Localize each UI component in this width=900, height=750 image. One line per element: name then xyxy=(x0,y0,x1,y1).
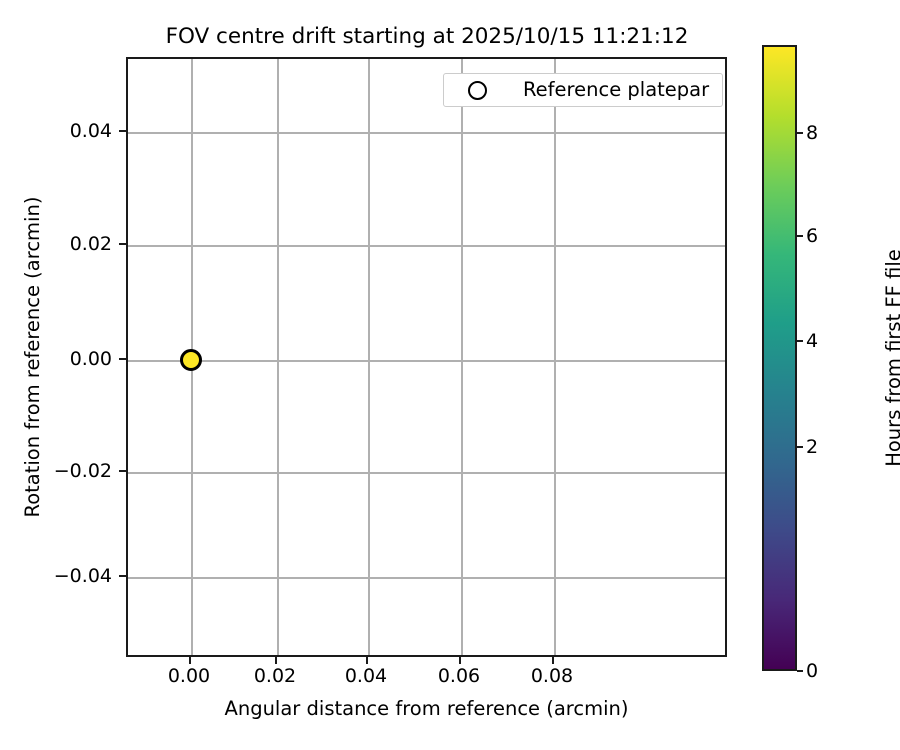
y-tick-label: 0.02 xyxy=(70,232,112,256)
page-title: FOV centre drift starting at 2025/10/15 … xyxy=(126,24,728,50)
y-tick-mark xyxy=(119,575,126,577)
y-tick-label: 0.04 xyxy=(70,119,112,143)
x-tick-mark xyxy=(189,657,191,664)
gridline-vertical xyxy=(461,59,463,655)
gridline-vertical xyxy=(554,59,556,655)
y-tick-mark xyxy=(119,358,126,360)
colorbar-label: Hours from first FF file xyxy=(882,58,900,658)
x-axis-label: Angular distance from reference (arcmin) xyxy=(126,697,727,721)
legend-marker-icon xyxy=(468,81,487,100)
figure-canvas: FOV centre drift starting at 2025/10/15 … xyxy=(0,0,900,750)
legend-item-label: Reference platepar xyxy=(523,78,709,102)
y-tick-label: −0.02 xyxy=(54,459,112,483)
x-tick-mark xyxy=(366,657,368,664)
x-tick-mark xyxy=(459,657,461,664)
gridline-horizontal xyxy=(128,577,725,579)
y-tick-mark xyxy=(119,470,126,472)
gridline-horizontal xyxy=(128,472,725,474)
legend-box[interactable]: Reference platepar xyxy=(443,73,723,107)
colorbar-tick-label: 0 xyxy=(806,659,818,683)
y-tick-label: −0.04 xyxy=(54,564,112,588)
colorbar-tick-label: 4 xyxy=(806,329,818,353)
x-tick-label: 0.08 xyxy=(492,664,612,688)
gridline-vertical xyxy=(277,59,279,655)
x-tick-mark xyxy=(552,657,554,664)
y-tick-label: 0.00 xyxy=(70,347,112,371)
gridline-horizontal xyxy=(128,360,725,362)
y-tick-mark xyxy=(119,243,126,245)
scatter-point-reference[interactable] xyxy=(180,349,202,371)
colorbar-tick-mark xyxy=(797,446,803,448)
plot-area[interactable]: Reference platepar xyxy=(126,57,727,657)
colorbar-gradient xyxy=(762,45,797,671)
colorbar-tick-label: 8 xyxy=(806,121,818,145)
x-tick-mark xyxy=(275,657,277,664)
gridline-horizontal xyxy=(128,245,725,247)
y-axis-label: Rotation from reference (arcmin) xyxy=(21,57,45,657)
colorbar-tick-mark xyxy=(797,132,803,134)
colorbar-tick-mark xyxy=(797,340,803,342)
gridline-horizontal xyxy=(128,132,725,134)
colorbar-tick-label: 2 xyxy=(806,435,818,459)
y-tick-mark xyxy=(119,130,126,132)
colorbar-tick-mark xyxy=(797,235,803,237)
colorbar[interactable] xyxy=(762,45,797,671)
colorbar-tick-mark xyxy=(797,670,803,672)
colorbar-tick-label: 6 xyxy=(806,224,818,248)
gridline-vertical xyxy=(368,59,370,655)
